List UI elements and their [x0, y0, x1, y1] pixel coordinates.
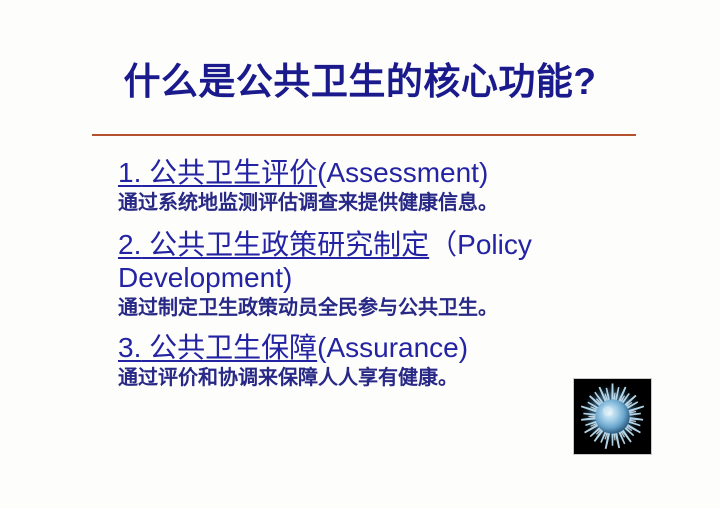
spacer	[118, 321, 678, 331]
slide-canvas: 什么是公共卫生的核心功能? 1. 公共卫生评价(Assessment) 通过系统…	[0, 0, 720, 508]
page-title: 什么是公共卫生的核心功能?	[0, 62, 720, 103]
item-heading-number: 1.	[118, 157, 141, 188]
item-heading-cn: 公共卫生评价	[141, 157, 317, 188]
item-heading: 3. 公共卫生保障(Assurance)	[118, 331, 678, 364]
item-description: 通过制定卫生政策动员全民参与公共卫生。	[118, 296, 678, 321]
item-heading: 2. 公共卫生政策研究制定（Policy Development)	[118, 228, 678, 294]
item-heading-number: 3.	[118, 332, 141, 363]
item-description: 通过系统地监测评估调查来提供健康信息。	[118, 191, 678, 216]
item-heading-cn: 公共卫生保障	[141, 332, 317, 363]
item-heading-cn: 公共卫生政策研究制定	[141, 229, 429, 260]
virus-particle-image	[573, 378, 652, 455]
content-body: 1. 公共卫生评价(Assessment) 通过系统地监测评估调查来提供健康信息…	[118, 156, 678, 391]
list-item: 1. 公共卫生评价(Assessment) 通过系统地监测评估调查来提供健康信息…	[118, 156, 678, 216]
virus-icon	[574, 379, 651, 454]
title-divider	[92, 134, 636, 136]
item-heading-en: (Assurance)	[317, 332, 468, 363]
item-heading: 1. 公共卫生评价(Assessment)	[118, 156, 678, 189]
list-item: 2. 公共卫生政策研究制定（Policy Development) 通过制定卫生…	[118, 228, 678, 321]
item-heading-en: (Assessment)	[317, 157, 488, 188]
item-heading-number: 2.	[118, 229, 141, 260]
spacer	[118, 216, 678, 228]
